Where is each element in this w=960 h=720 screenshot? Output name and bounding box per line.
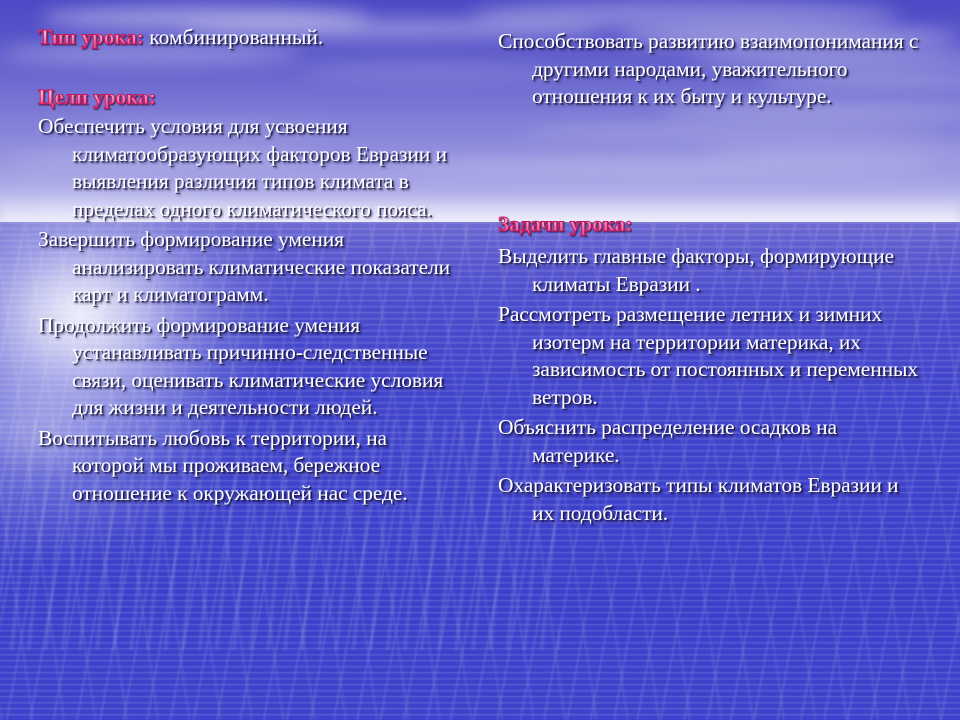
goal-item: Воспитывать любовь к территории, на кото… bbox=[38, 425, 462, 508]
tasks-heading: Задачи урока: bbox=[498, 212, 632, 236]
goal-item-continued: Способствовать развитию взаимопонимания … bbox=[498, 28, 922, 111]
goals-continued-list: Способствовать развитию взаимопонимания … bbox=[498, 28, 922, 114]
tasks-list: Выделить главные факторы, формирующие кл… bbox=[498, 243, 922, 530]
task-item: Объяснить распределение осадков на матер… bbox=[498, 414, 922, 469]
goal-item: Продолжить формирование умения устанавли… bbox=[38, 312, 462, 422]
lesson-type-line: Тип урока: комбинированный. bbox=[38, 24, 458, 51]
goals-heading: Цели урока: bbox=[38, 85, 156, 109]
lesson-type-value: комбинированный. bbox=[144, 25, 323, 49]
tasks-heading-line: Задачи урока: bbox=[498, 211, 918, 238]
goal-item: Завершить формирование умения анализиров… bbox=[38, 226, 462, 309]
presentation-slide: Тип урока: комбинированный. Цели урока: … bbox=[0, 0, 960, 720]
lesson-type-heading: Тип урока: bbox=[38, 25, 144, 49]
goals-list: Обеспечить условия для усвоения климатоо… bbox=[38, 113, 462, 510]
goal-item: Обеспечить условия для усвоения климатоо… bbox=[38, 113, 462, 223]
goals-heading-line: Цели урока: bbox=[38, 84, 458, 111]
task-item: Рассмотреть размещение летних и зимних и… bbox=[498, 301, 922, 411]
task-item: Охарактеризовать типы климатов Евразии и… bbox=[498, 472, 922, 527]
task-item: Выделить главные факторы, формирующие кл… bbox=[498, 243, 922, 298]
